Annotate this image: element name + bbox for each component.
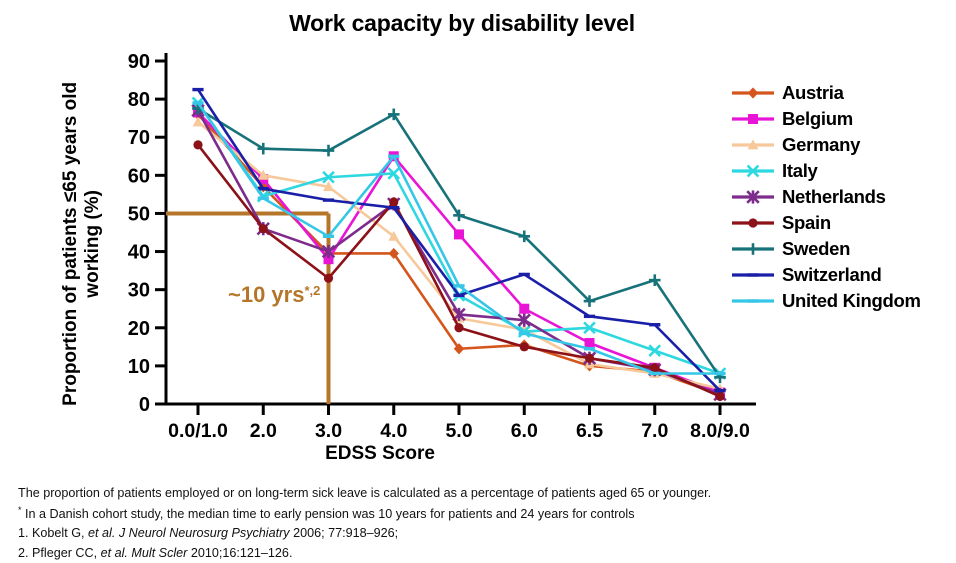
legend-item-switzerland[interactable]: Switzerland bbox=[730, 262, 956, 288]
legend-swatch-icon bbox=[730, 212, 776, 234]
legend-item-austria[interactable]: Austria bbox=[730, 80, 956, 106]
y-tick-label: 70 bbox=[128, 127, 150, 149]
legend-label: United Kingdom bbox=[782, 290, 921, 312]
ref2-prefix: 2. Pfleger CC, bbox=[18, 546, 101, 560]
y-tick-label: 20 bbox=[128, 318, 150, 340]
ref1-journal: et al. J Neurol Neurosurg Psychiatry bbox=[88, 526, 290, 540]
footnote-line-4: 2. Pfleger CC, et al. Mult Scler 2010;16… bbox=[18, 544, 948, 563]
data-point bbox=[519, 304, 529, 314]
data-point bbox=[715, 392, 724, 401]
legend-item-sweden[interactable]: Sweden bbox=[730, 236, 956, 262]
data-point bbox=[454, 323, 463, 332]
ref2-journal: et al. Mult Scler bbox=[101, 546, 188, 560]
y-tick-label: 90 bbox=[128, 51, 150, 73]
y-tick-label: 10 bbox=[128, 356, 150, 378]
ref1-suffix: 2006; 77:918–926; bbox=[290, 526, 399, 540]
footnote-line-1: The proportion of patients employed or o… bbox=[18, 484, 948, 504]
series-line bbox=[198, 109, 720, 378]
legend-marker-icon bbox=[748, 87, 758, 98]
legend-swatch-icon bbox=[730, 238, 776, 260]
x-tick-label: 0.0/1.0 bbox=[168, 420, 228, 442]
data-point bbox=[585, 354, 594, 363]
x-tick-label: 6.0 bbox=[511, 420, 538, 442]
x-tick-label: 2.0 bbox=[250, 420, 277, 442]
footnote-line-2-text: In a Danish cohort study, the median tim… bbox=[22, 507, 635, 521]
series-line bbox=[198, 145, 720, 397]
annotation-superscript: *,2 bbox=[304, 283, 320, 298]
legend-item-belgium[interactable]: Belgium bbox=[730, 106, 956, 132]
legend-label: Italy bbox=[782, 160, 818, 182]
legend-item-united-kingdom[interactable]: United Kingdom bbox=[730, 288, 956, 314]
y-tick-label: 30 bbox=[128, 280, 150, 302]
data-point bbox=[454, 229, 464, 239]
series-austria bbox=[193, 109, 725, 400]
legend-swatch-icon bbox=[730, 160, 776, 182]
chart-legend: AustriaBelgiumGermanyItalyNetherlandsSpa… bbox=[730, 80, 956, 314]
data-point bbox=[324, 274, 333, 283]
series-sweden bbox=[192, 103, 726, 383]
legend-swatch-icon bbox=[730, 264, 776, 286]
data-point bbox=[259, 224, 268, 233]
legend-marker-icon bbox=[748, 114, 758, 124]
legend-swatch-icon bbox=[730, 134, 776, 156]
legend-item-netherlands[interactable]: Netherlands bbox=[730, 184, 956, 210]
y-tick-label: 0 bbox=[139, 394, 150, 416]
annotation-label: ~10 yrs*,2 bbox=[228, 282, 320, 307]
data-point bbox=[585, 338, 595, 348]
legend-swatch-icon bbox=[730, 82, 776, 104]
legend-marker-icon bbox=[748, 218, 757, 227]
ref1-prefix: 1. Kobelt G, bbox=[18, 526, 88, 540]
legend-item-spain[interactable]: Spain bbox=[730, 210, 956, 236]
footnote-line-2: * In a Danish cohort study, the median t… bbox=[18, 504, 948, 525]
data-point bbox=[520, 342, 529, 351]
legend-label: Spain bbox=[782, 212, 831, 234]
ref2-suffix: 2010;16:121–126. bbox=[187, 546, 292, 560]
legend-label: Switzerland bbox=[782, 264, 882, 286]
footnotes: The proportion of patients employed or o… bbox=[18, 484, 948, 563]
x-tick-label: 8.0/9.0 bbox=[690, 420, 750, 442]
legend-swatch-icon bbox=[730, 108, 776, 130]
x-tick-label: 6.5 bbox=[576, 420, 603, 442]
legend-item-italy[interactable]: Italy bbox=[730, 158, 956, 184]
y-tick-label: 80 bbox=[128, 89, 150, 111]
legend-label: Germany bbox=[782, 134, 860, 156]
legend-label: Belgium bbox=[782, 108, 853, 130]
y-tick-label: 60 bbox=[128, 165, 150, 187]
legend-label: Austria bbox=[782, 82, 844, 104]
x-tick-label: 5.0 bbox=[445, 420, 472, 442]
x-tick-label: 7.0 bbox=[641, 420, 668, 442]
y-tick-label: 40 bbox=[128, 242, 150, 264]
y-tick-label: 50 bbox=[128, 203, 150, 225]
legend-label: Sweden bbox=[782, 238, 850, 260]
data-point bbox=[193, 140, 202, 149]
footnote-line-3: 1. Kobelt G, et al. J Neurol Neurosurg P… bbox=[18, 524, 948, 544]
series-spain bbox=[193, 140, 724, 401]
legend-item-germany[interactable]: Germany bbox=[730, 132, 956, 158]
x-tick-label: 3.0 bbox=[315, 420, 342, 442]
data-point bbox=[389, 197, 398, 206]
legend-swatch-icon bbox=[730, 186, 776, 208]
slide-root: Work capacity by disability level Propor… bbox=[0, 0, 956, 561]
x-tick-label: 4.0 bbox=[380, 420, 407, 442]
legend-swatch-icon bbox=[730, 290, 776, 312]
legend-label: Netherlands bbox=[782, 186, 886, 208]
